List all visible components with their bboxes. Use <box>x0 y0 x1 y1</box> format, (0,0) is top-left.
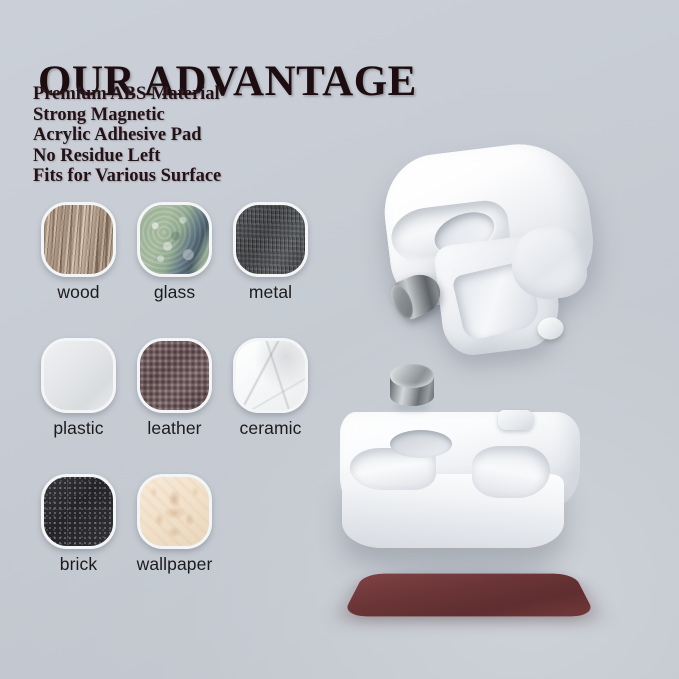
glass-texture-swatch <box>137 202 212 277</box>
feature-list: Premium ABS Material Strong Magnetic Acr… <box>33 84 221 187</box>
base-right-notch <box>472 446 550 498</box>
metal-texture-swatch <box>233 202 308 277</box>
surface-swatch-leather: leather <box>137 338 212 413</box>
swatch-label: glass <box>154 282 195 303</box>
swatch-label: metal <box>249 282 292 303</box>
wood-texture-swatch <box>41 202 116 277</box>
ceramic-texture-swatch <box>233 338 308 413</box>
acrylic-adhesive-pad <box>342 574 596 617</box>
surface-swatch-metal: metal <box>233 202 308 277</box>
surface-swatch-brick: brick <box>41 474 116 549</box>
product-render-area <box>320 120 679 640</box>
magnet-top-face <box>390 364 434 388</box>
swatch-label: plastic <box>53 418 103 439</box>
swatch-label: wallpaper <box>137 554 213 575</box>
white-abs-bracket-clip <box>369 125 615 380</box>
base-magnet-recess <box>390 430 452 458</box>
surface-swatch-ceramic: ceramic <box>233 338 308 413</box>
magnet-cylinder-icon <box>390 364 434 412</box>
base-clip-tab <box>498 410 534 430</box>
white-abs-mounting-base <box>332 388 592 568</box>
feature-item: No Residue Left <box>33 146 221 167</box>
product-advantage-poster: OUR ADVANTAGE Premium ABS Material Stron… <box>0 0 679 679</box>
surface-swatch-wallpaper: wallpaper <box>137 474 212 549</box>
surface-swatch-wood: wood <box>41 202 116 277</box>
feature-item: Premium ABS Material <box>33 84 221 105</box>
surface-swatch-plastic: plastic <box>41 338 116 413</box>
surface-swatch-glass: glass <box>137 202 212 277</box>
feature-item: Acrylic Adhesive Pad <box>33 125 221 146</box>
surface-swatch-grid: wood glass metal plastic leather ceramic… <box>41 202 308 549</box>
swatch-label: leather <box>147 418 201 439</box>
plastic-texture-swatch <box>41 338 116 413</box>
swatch-label: wood <box>57 282 99 303</box>
feature-item: Strong Magnetic <box>33 105 221 126</box>
swatch-label: brick <box>60 554 97 575</box>
feature-item: Fits for Various Surface <box>33 166 221 187</box>
swatch-label: ceramic <box>240 418 302 439</box>
brick-texture-swatch <box>41 474 116 549</box>
wallpaper-texture-swatch <box>137 474 212 549</box>
leather-texture-swatch <box>137 338 212 413</box>
